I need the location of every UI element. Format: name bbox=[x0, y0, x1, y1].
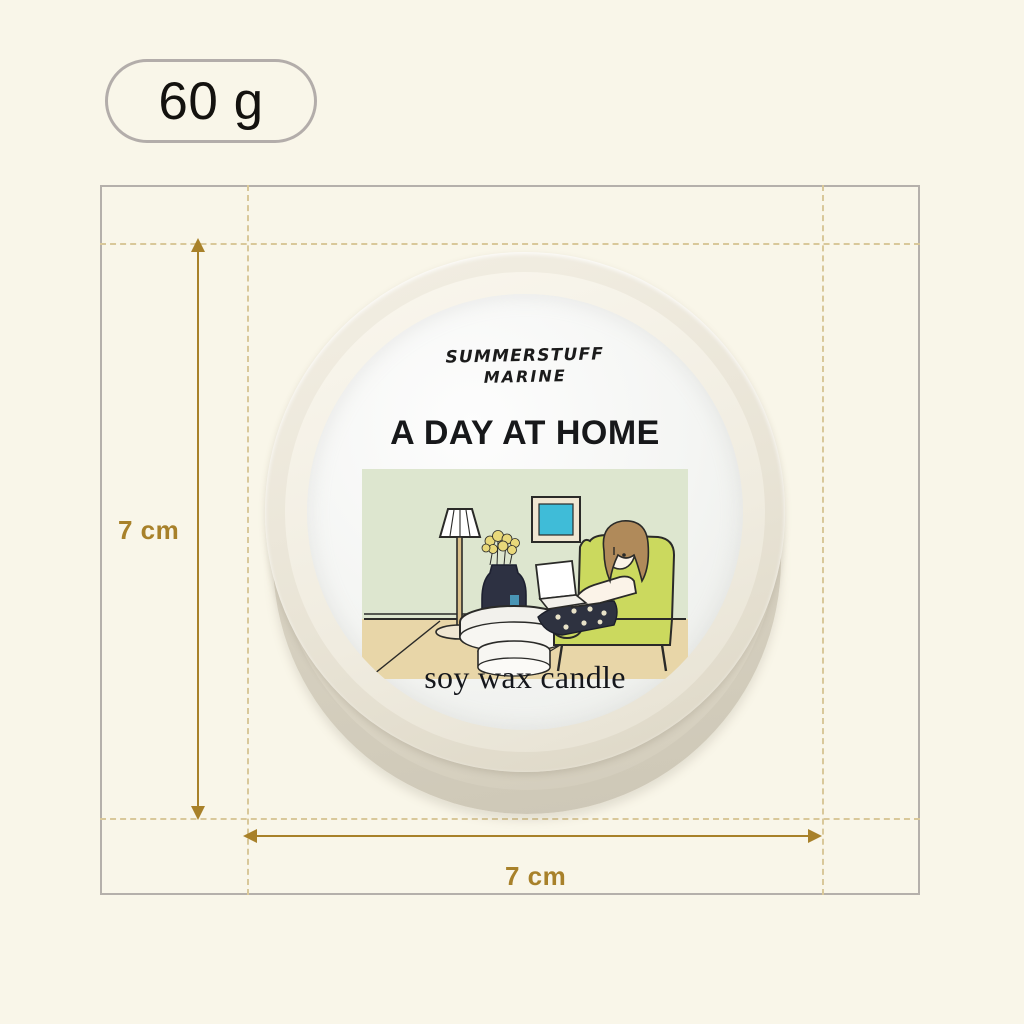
brand-line-1: SUMMERSTUFF bbox=[445, 344, 604, 367]
guide-line-right bbox=[822, 185, 824, 895]
brand-line-2: MARINE bbox=[307, 363, 743, 392]
brand-name: SUMMERSTUFF MARINE bbox=[307, 341, 743, 391]
height-arrow-bottom-icon bbox=[191, 806, 205, 820]
product-subtitle: soy wax candle bbox=[307, 659, 743, 696]
weight-badge-label: 60 g bbox=[158, 75, 263, 128]
weight-badge: 60 g bbox=[105, 59, 317, 143]
height-dimension-label: 7 cm bbox=[118, 515, 179, 546]
width-arrow-left-icon bbox=[243, 829, 257, 843]
height-dimension-line bbox=[197, 243, 199, 818]
candle-tin: SUMMERSTUFF MARINE A DAY AT HOME bbox=[255, 240, 795, 810]
width-dimension-line bbox=[248, 835, 820, 837]
guide-line-left bbox=[247, 185, 249, 895]
label-illustration bbox=[362, 469, 688, 679]
product-label: SUMMERSTUFF MARINE A DAY AT HOME bbox=[307, 294, 743, 730]
width-dimension-label: 7 cm bbox=[505, 861, 566, 892]
product-title: A DAY AT HOME bbox=[307, 414, 743, 453]
width-arrow-right-icon bbox=[808, 829, 822, 843]
guide-line-bottom bbox=[100, 818, 920, 820]
tin-lid: SUMMERSTUFF MARINE A DAY AT HOME bbox=[265, 252, 785, 772]
height-arrow-top-icon bbox=[191, 238, 205, 252]
